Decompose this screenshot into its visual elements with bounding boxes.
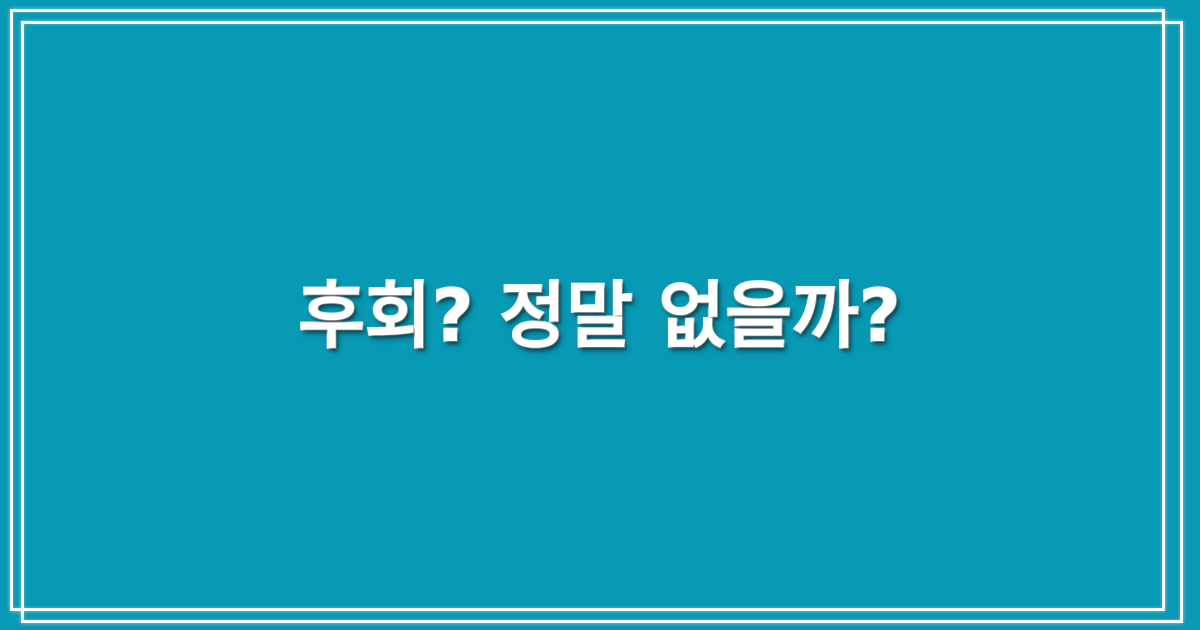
page-title: 후회? 정말 없을까? [299,273,902,361]
thumbnail-card: 후회? 정말 없을까? [0,0,1200,630]
title-container: 후회? 정말 없을까? [0,0,1200,630]
